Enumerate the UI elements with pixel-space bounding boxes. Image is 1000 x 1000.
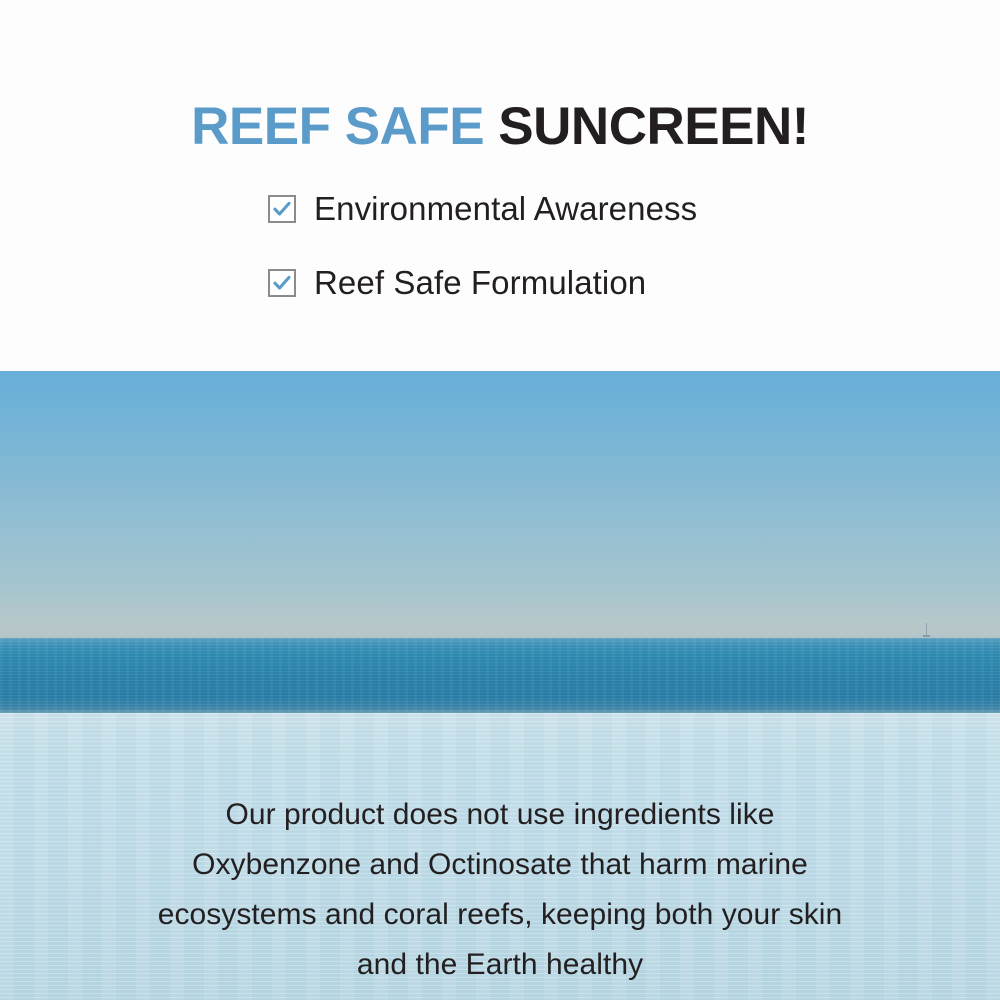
list-item[interactable]: Environmental Awareness — [0, 186, 1000, 232]
page-title-space — [484, 97, 498, 156]
checkbox-checked-icon[interactable] — [268, 195, 296, 223]
sailboat-hull — [923, 635, 930, 637]
distant-sailboat-icon — [922, 623, 931, 639]
checklist-item-label: Environmental Awareness — [314, 190, 697, 228]
feature-checklist: Environmental Awareness Reef Safe Formul… — [0, 186, 1000, 334]
page-title-highlight: REEF SAFE — [191, 97, 484, 156]
description-line: ecosystems and coral reefs, keeping both… — [50, 890, 950, 940]
sea-sparkle-texture — [0, 638, 1000, 713]
reef-safe-suncreen-card: REEF SAFE SUNCREEN! Environmental Awaren… — [0, 0, 1000, 1000]
page-title-rest: SUNCREEN! — [498, 97, 809, 156]
description-line: Our product does not use ingredients lik… — [50, 790, 950, 840]
checklist-item-label: Reef Safe Formulation — [314, 264, 646, 302]
sea-region — [0, 638, 1000, 713]
description-line: Oxybenzone and Octinosate that harm mari… — [50, 840, 950, 890]
horizon-haze — [0, 586, 1000, 640]
list-item[interactable]: Reef Safe Formulation — [0, 260, 1000, 306]
top-content-panel: REEF SAFE SUNCREEN! Environmental Awaren… — [0, 0, 1000, 371]
checkbox-checked-icon[interactable] — [268, 269, 296, 297]
description-line: and the Earth healthy — [50, 940, 950, 990]
description-text: Our product does not use ingredients lik… — [50, 790, 950, 990]
page-title: REEF SAFE SUNCREEN! — [0, 96, 1000, 158]
